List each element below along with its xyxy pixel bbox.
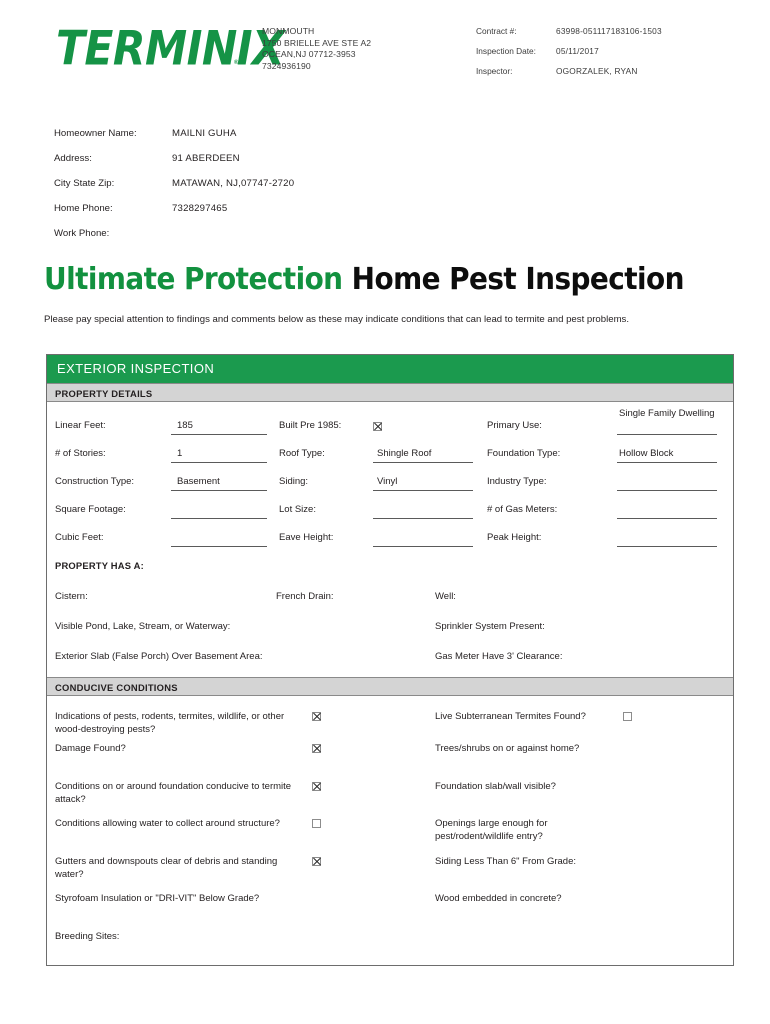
gas-meters-label: # of Gas Meters: [487,504,557,515]
lot-size-label: Lot Size: [279,504,316,515]
page-title-green: Ultimate Protection [44,262,343,297]
branch-phone: 7324936190 [262,61,371,73]
property-has-sprinkler-label: Sprinkler System Present: [435,621,545,632]
inspection-date-label: Inspection Date: [476,46,536,56]
stories-rule [171,462,267,463]
property-has-french-drain-label: French Drain: [276,591,334,602]
contract-info-block: Contract #: 63998-051117183106-1503 Insp… [476,26,756,86]
logo-wordmark: TERMINIX [56,22,268,76]
built-pre-1985-label: Built Pre 1985: [279,420,341,431]
conducive-right-item-4: Siding Less Than 6" From Grade: [435,855,615,868]
inspector-label: Inspector: [476,66,512,76]
property-row-linear-feet: Linear Feet: 185 Built Pre 1985: Primary… [47,417,733,445]
terminix-logo: TERMINIX ® [56,22,256,68]
branch-name: MONMOUTH [262,26,371,38]
lot-size-rule [373,518,473,519]
property-row-construction: Construction Type: Basement Siding: Viny… [47,473,733,501]
foundation-type-value[interactable]: Hollow Block [619,448,673,459]
section-header-exterior-inspection: EXTERIOR INSPECTION [47,355,733,383]
branch-street: 1750 BRIELLE AVE STE A2 [262,38,371,50]
cubic-feet-rule [171,546,267,547]
siding-rule [373,490,473,491]
primary-use-label: Primary Use: [487,420,542,431]
square-footage-label: Square Footage: [55,504,126,515]
roof-type-rule [373,462,473,463]
industry-type-label: Industry Type: [487,476,547,487]
conducive-left-checkbox-0[interactable] [312,712,321,721]
construction-type-rule [171,490,267,491]
conducive-right-item-1: Trees/shrubs on or against home? [435,742,615,755]
conducive-left-checkbox-2[interactable] [312,782,321,791]
intro-paragraph: Please pay special attention to findings… [44,313,738,328]
property-row-cubic-feet: Cubic Feet: Eave Height: Peak Height: [47,529,733,557]
stories-value[interactable]: 1 [177,448,182,459]
construction-type-value[interactable]: Basement [177,476,220,487]
home-phone-label: Home Phone: [54,203,113,214]
industry-type-rule [617,490,717,491]
city-state-zip-value: MATAWAN, NJ,07747-2720 [172,178,294,189]
homeowner-name-value: MAILNI GUHA [172,128,237,139]
branch-address-block: MONMOUTH 1750 BRIELLE AVE STE A2 OCEAN,N… [262,26,371,72]
property-has-well-label: Well: [435,591,456,602]
contract-number-row: Contract #: 63998-051117183106-1503 [476,26,756,46]
property-has-gas-meter-clearance-label: Gas Meter Have 3' Clearance: [435,651,562,662]
page-title: Ultimate Protection Home Pest Inspection [44,262,684,297]
registered-trademark-icon: ® [234,60,238,66]
contract-number-label: Contract #: [476,26,517,36]
conducive-left-item-1: Damage Found? [55,742,305,755]
work-phone-row: Work Phone: [54,228,474,253]
siding-value[interactable]: Vinyl [377,476,397,487]
conducive-left-checkbox-4[interactable] [312,857,321,866]
foundation-type-rule [617,462,717,463]
conducive-left-item-4: Gutters and downspouts clear of debris a… [55,855,305,882]
primary-use-value[interactable]: Single Family Dwelling [619,407,715,420]
square-footage-rule [171,518,267,519]
eave-height-rule [373,546,473,547]
conducive-left-item-0: Indications of pests, rodents, termites,… [55,710,305,737]
peak-height-rule [617,546,717,547]
homeowner-name-label: Homeowner Name: [54,128,137,139]
foundation-type-label: Foundation Type: [487,448,560,459]
cubic-feet-label: Cubic Feet: [55,532,104,543]
inspection-date-row: Inspection Date: 05/11/2017 [476,46,756,66]
conducive-right-item-0: Live Subterranean Termites Found? [435,710,615,723]
inspection-date-value: 05/11/2017 [556,46,599,56]
conducive-right-item-5: Wood embedded in concrete? [435,892,615,905]
home-phone-row: Home Phone: 7328297465 [54,203,474,228]
built-pre-1985-checkbox[interactable] [373,422,382,431]
property-has-cistern-label: Cistern: [55,591,88,602]
conducive-left-item-3: Conditions allowing water to collect aro… [55,817,305,830]
address-row: Address: 91 ABERDEEN [54,153,474,178]
homeowner-info-block: Homeowner Name: MAILNI GUHA Address: 91 … [54,128,474,253]
branch-city-state-zip: OCEAN,NJ 07712-3953 [262,49,371,61]
conducive-left-checkbox-3[interactable] [312,819,321,828]
conducive-left-item-2: Conditions on or around foundation condu… [55,780,305,807]
primary-use-rule [617,434,717,435]
gas-meters-rule [617,518,717,519]
page-header: TERMINIX ® MONMOUTH 1750 BRIELLE AVE STE… [0,0,770,110]
conducive-left-item-5: Styrofoam Insulation or "DRI-VIT" Below … [55,892,305,905]
city-state-zip-label: City State Zip: [54,178,114,189]
inspector-value: OGORZALEK, RYAN [556,66,638,76]
roof-type-value[interactable]: Shingle Roof [377,448,431,459]
conducive-left-item-6: Breeding Sites: [55,930,305,943]
conducive-right-checkbox-0[interactable] [623,712,632,721]
siding-label: Siding: [279,476,308,487]
conducive-right-item-2: Foundation slab/wall visible? [435,780,615,793]
inspector-row: Inspector: OGORZALEK, RYAN [476,66,756,86]
exterior-inspection-form: EXTERIOR INSPECTION PROPERTY DETAILS Lin… [46,354,734,966]
page-title-black: Home Pest Inspection [352,262,684,297]
section-header-conducive-conditions: CONDUCIVE CONDITIONS [47,677,733,696]
section-header-property-details: PROPERTY DETAILS [47,383,733,402]
address-label: Address: [54,153,92,164]
stories-label: # of Stories: [55,448,106,459]
linear-feet-value[interactable]: 185 [177,420,193,431]
work-phone-label: Work Phone: [54,228,109,239]
home-phone-value: 7328297465 [172,203,227,214]
city-state-zip-row: City State Zip: MATAWAN, NJ,07747-2720 [54,178,474,203]
address-value: 91 ABERDEEN [172,153,240,164]
property-row-square-footage: Square Footage: Lot Size: # of Gas Meter… [47,501,733,529]
peak-height-label: Peak Height: [487,532,541,543]
roof-type-label: Roof Type: [279,448,325,459]
construction-type-label: Construction Type: [55,476,134,487]
conducive-right-item-3: Openings large enough for pest/rodent/wi… [435,817,615,844]
eave-height-label: Eave Height: [279,532,333,543]
property-has-exterior-slab-label: Exterior Slab (False Porch) Over Basemen… [55,651,263,662]
homeowner-name-row: Homeowner Name: MAILNI GUHA [54,128,474,153]
property-has-visible-water-label: Visible Pond, Lake, Stream, or Waterway: [55,621,230,632]
property-row-stories: # of Stories: 1 Roof Type: Shingle Roof … [47,445,733,473]
conducive-left-checkbox-1[interactable] [312,744,321,753]
linear-feet-label: Linear Feet: [55,420,106,431]
contract-number-value: 63998-051117183106-1503 [556,26,662,36]
property-has-a-heading: PROPERTY HAS A: [55,560,144,571]
linear-feet-rule [171,434,267,435]
